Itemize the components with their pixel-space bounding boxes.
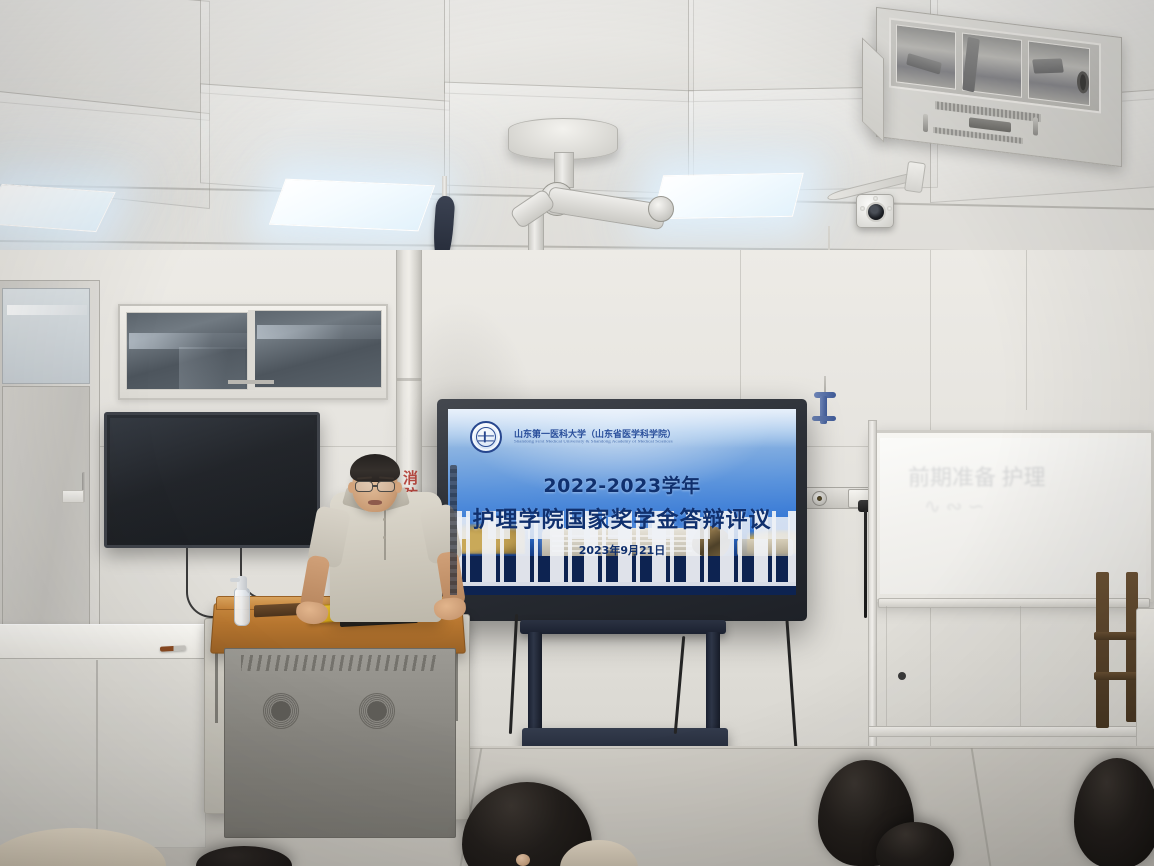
slide-title-line2: 护理学院国家奖学金答辩评议 xyxy=(448,502,796,534)
mobile-whiteboard[interactable]: 前期准备 护理 ∿ ∾ ∽ xyxy=(872,430,1154,602)
slide-title-block: 2022-2023学年 护理学院国家奖学金答辩评议 xyxy=(448,471,796,534)
counter-top xyxy=(0,624,216,660)
whiteboard-surface[interactable]: 前期准备 护理 ∿ ∾ ∽ xyxy=(880,438,1146,594)
presenter-glasses-right-lens xyxy=(377,481,395,492)
university-seal-icon xyxy=(470,421,502,453)
cctv-ir-led xyxy=(887,206,892,211)
presenter-glasses-bridge xyxy=(372,485,378,487)
window-pane-right xyxy=(254,310,382,388)
whiteboard-residual-writing: ∿ ∾ ∽ xyxy=(924,494,984,519)
window-pane-left xyxy=(126,312,248,390)
whiteboard-stand-leg xyxy=(868,420,877,760)
slide-date: 2023年9月21日 xyxy=(448,542,796,558)
cctv-ir-led xyxy=(873,196,878,201)
hatch-slot xyxy=(969,117,1011,132)
base-cabinet-with-counter[interactable] xyxy=(0,658,206,848)
sanitizer-nozzle xyxy=(230,578,240,582)
white-stool xyxy=(1136,608,1154,748)
whiteboard-marker-tray xyxy=(878,598,1150,608)
display-cart-top xyxy=(520,620,726,634)
slide-institution-name-en: Shandong First Medical University & Shan… xyxy=(514,440,673,444)
hatch-bolt xyxy=(923,114,928,133)
interior-sliding-window xyxy=(118,304,388,400)
led-panel-light-center xyxy=(269,179,435,232)
pillar-band xyxy=(397,378,421,381)
presenter-ear xyxy=(395,482,402,493)
cctv-ir-led xyxy=(860,206,865,211)
slide-artwork-baseline xyxy=(448,582,796,586)
wall-port xyxy=(898,672,906,680)
shirt-button xyxy=(383,518,386,521)
display-side-controls[interactable] xyxy=(450,465,457,595)
wall-seam xyxy=(1020,606,1021,726)
window-mullion xyxy=(248,310,255,390)
slide-institution-name: 山东第一医科大学（山东省医学科学院） xyxy=(514,427,676,440)
led-panel-light-left xyxy=(0,184,116,232)
window-latch[interactable] xyxy=(228,380,274,384)
presenter-glasses-left-lens xyxy=(355,481,373,492)
presenter-mouth xyxy=(368,500,382,505)
hatch-pane xyxy=(896,24,956,89)
dome-security-camera xyxy=(856,194,894,228)
shirt-placket xyxy=(384,506,386,560)
wall-seam xyxy=(1026,250,1027,410)
monitor-cable xyxy=(240,548,310,600)
wall-info-plate xyxy=(62,490,84,503)
iv-hook-crossbar xyxy=(812,416,836,421)
classroom-photo-scene: 消防 山东第一医科大学（山东省医学科学院） Shandong First Med… xyxy=(0,0,1154,866)
chair-rail xyxy=(1094,632,1140,640)
slide-title-line1: 2022-2023学年 xyxy=(448,471,796,498)
presenter-ear xyxy=(348,482,355,493)
cctv-lens xyxy=(866,202,886,222)
monitor-glass xyxy=(110,418,314,542)
wall-mounted-monitor-off[interactable] xyxy=(104,412,320,548)
hatch-window xyxy=(889,17,1101,113)
power-cable xyxy=(864,510,867,618)
door-transom-glass xyxy=(2,288,90,384)
whiteboard-residual-writing: 前期准备 护理 xyxy=(908,460,1046,492)
hand-sanitizer-bottle[interactable] xyxy=(234,588,250,626)
seal-emblem xyxy=(478,431,494,442)
hatch-internal-duct xyxy=(1032,58,1064,73)
lectern-front-panel xyxy=(224,648,456,838)
interactive-flat-panel[interactable]: 山东第一医科大学（山东省医学科学院） Shandong First Medica… xyxy=(437,399,807,621)
medical-gas-outlet[interactable] xyxy=(812,491,827,506)
chair-leg xyxy=(1096,572,1109,728)
hair-clip xyxy=(516,854,530,866)
display-screen[interactable]: 山东第一医科大学（山东省医学科学院） Shandong First Medica… xyxy=(448,409,796,595)
glass-glint xyxy=(7,305,87,315)
lectern-front-vent xyxy=(241,655,437,671)
hatch-latch-ring xyxy=(1077,71,1089,94)
podium-speaker-grille xyxy=(359,693,395,729)
camera-arm-joint xyxy=(648,196,674,222)
whiteboard-stand-crossbar xyxy=(868,726,1154,737)
chair-rail xyxy=(1094,672,1140,680)
led-panel-light-right xyxy=(652,173,804,219)
hatch-bolt xyxy=(1033,117,1038,136)
shirt-button xyxy=(383,536,386,539)
cabinet-door-seam xyxy=(96,660,98,846)
presentation-slide: 山东第一医科大学（山东省医学科学院） Shandong First Medica… xyxy=(448,409,796,595)
podium-speaker-grille xyxy=(263,693,299,729)
window-reflection xyxy=(257,325,381,339)
wall-seam xyxy=(886,606,887,726)
